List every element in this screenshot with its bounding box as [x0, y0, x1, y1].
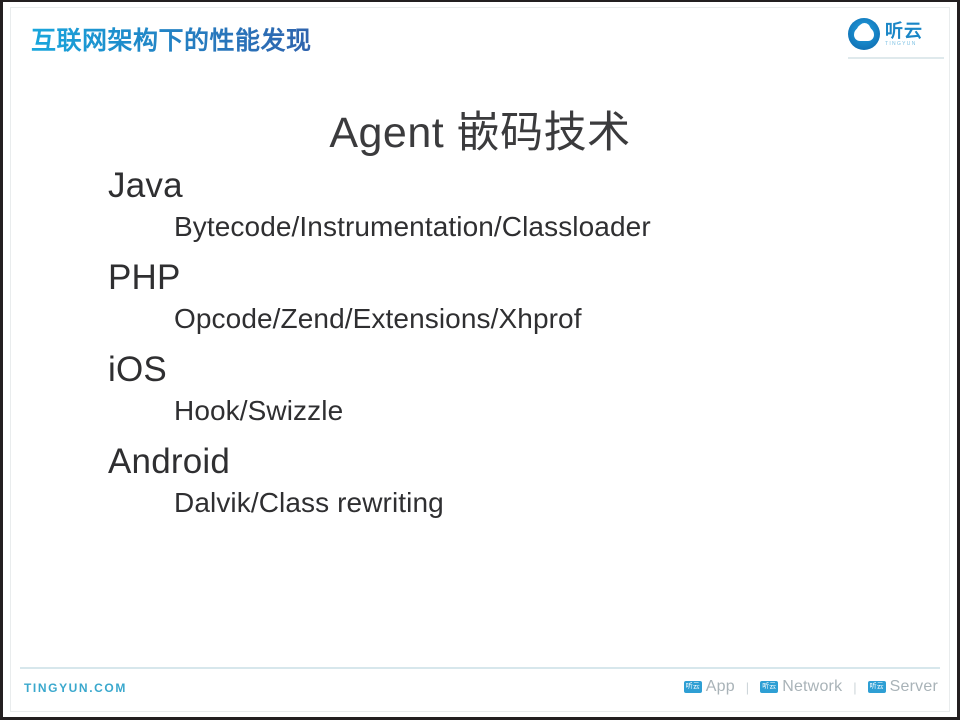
- platform-detail: Opcode/Zend/Extensions/Xhprof: [174, 302, 888, 336]
- footer-separator: |: [851, 680, 858, 695]
- tingyun-badge-icon: 听云: [684, 681, 702, 693]
- product-server: 听云 Server: [868, 678, 938, 696]
- footer-separator: |: [744, 680, 751, 695]
- header-title: 互联网架构下的性能发现: [31, 21, 312, 57]
- brand-wordmark: 听云 TINGYUN: [885, 22, 923, 47]
- tingyun-badge-icon: 听云: [760, 681, 778, 693]
- footer-divider: [20, 667, 940, 669]
- tingyun-badge-icon: 听云: [868, 681, 886, 693]
- brand-name-en: TINGYUN: [885, 42, 923, 47]
- product-app: 听云 App: [684, 678, 735, 696]
- brand-logo: 听云 TINGYUN: [848, 16, 944, 60]
- brand-name-cn: 听云: [885, 22, 923, 40]
- slide-edge-top: [0, 0, 960, 2]
- list-item: iOS Hook/Swizzle: [108, 349, 888, 428]
- page-title: Agent 嵌码技术: [0, 98, 960, 160]
- product-name: App: [706, 678, 735, 696]
- list-item: Android Dalvik/Class rewriting: [108, 441, 888, 520]
- platform-list: Java Bytecode/Instrumentation/Classloade…: [108, 165, 888, 520]
- platform-detail: Dalvik/Class rewriting: [174, 486, 888, 520]
- footer-products: 听云 App | 听云 Network | 听云 Server: [684, 678, 938, 696]
- product-network: 听云 Network: [760, 678, 842, 696]
- footer-website: TINGYUN.COM: [24, 681, 127, 695]
- list-item: Java Bytecode/Instrumentation/Classloade…: [108, 165, 888, 244]
- platform-name: Java: [108, 165, 888, 206]
- platform-detail: Hook/Swizzle: [174, 394, 888, 428]
- platform-name: Android: [108, 441, 888, 482]
- product-name: Server: [890, 678, 938, 696]
- list-item: PHP Opcode/Zend/Extensions/Xhprof: [108, 257, 888, 336]
- slide-edge-left: [0, 0, 3, 720]
- cloud-circle-icon: [848, 18, 880, 50]
- brand-logo-underline: [848, 57, 944, 59]
- product-name: Network: [782, 678, 842, 696]
- brand-logo-row: 听云 TINGYUN: [848, 16, 944, 52]
- slide: 互联网架构下的性能发现 听云 TINGYUN Agent 嵌码技术 Java B…: [0, 0, 960, 720]
- platform-name: PHP: [108, 257, 888, 298]
- platform-name: iOS: [108, 349, 888, 390]
- platform-detail: Bytecode/Instrumentation/Classloader: [174, 210, 888, 244]
